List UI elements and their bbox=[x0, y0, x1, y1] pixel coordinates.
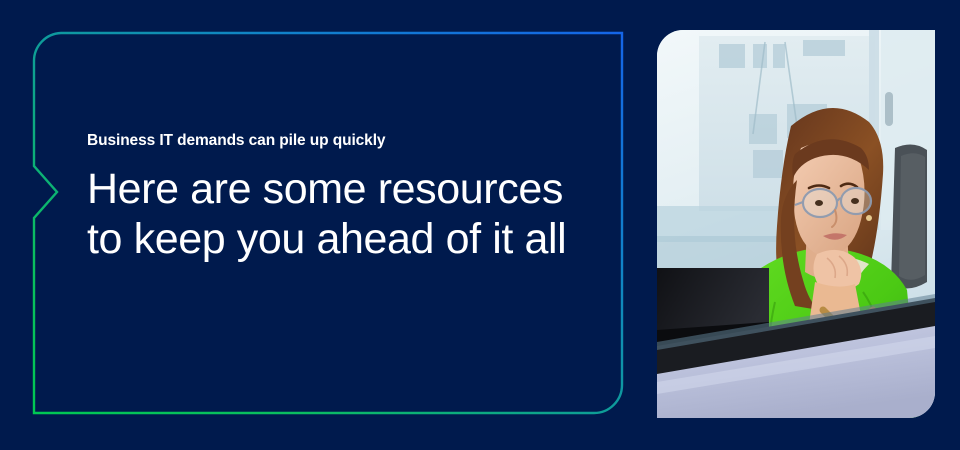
promo-banner: Business IT demands can pile up quickly … bbox=[0, 0, 960, 450]
office-photo bbox=[657, 30, 935, 418]
headline-line-1: Here are some resources bbox=[87, 164, 607, 214]
headline-line-2: to keep you ahead of it all bbox=[87, 214, 607, 264]
headline: Here are some resources to keep you ahea… bbox=[87, 164, 607, 265]
card-text-block: Business IT demands can pile up quickly … bbox=[87, 132, 607, 265]
office-photo-illustration bbox=[657, 30, 935, 418]
text-card: Business IT demands can pile up quickly … bbox=[33, 32, 623, 414]
eyebrow-text: Business IT demands can pile up quickly bbox=[87, 132, 607, 149]
